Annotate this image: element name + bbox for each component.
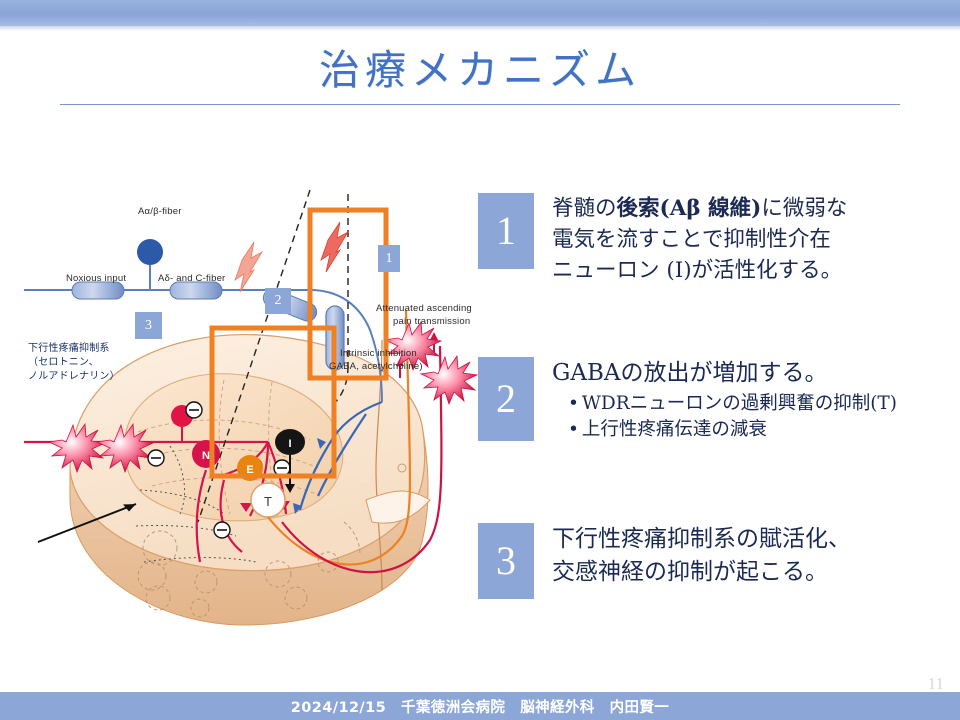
step1-line1b: 後索(Aβ 線維) [617, 196, 762, 221]
label-ad-c-fiber: Aδ- and C-fiber [158, 273, 225, 284]
step3-line1: 下行性疼痛抑制系の賦活化、 [552, 523, 851, 556]
footer-bar: 2024/12/15 千葉徳洲会病院 脳神経外科 内田賢一 [0, 692, 960, 720]
label-descending-line3: ノルアドレナリン） [28, 370, 120, 383]
step-text-3: 下行性疼痛抑制系の賦活化、 交感神経の抑制が起こる。 [552, 523, 851, 589]
step1-line3: ニューロン (I)が活性化する。 [552, 255, 847, 286]
label-attenuated-line2: pain transmission [393, 316, 470, 327]
step-item-2: 2 GABAの放出が増加する。 •WDRニューロンの過剰興奮の抑制(T) •上行… [478, 357, 897, 443]
diagram-badge-2: 2 [265, 288, 291, 314]
step-badge-1: 1 [478, 193, 534, 269]
step-item-1: 1 脊髄の後索(Aβ 線維)に微弱な 電気を流すことで抑制性介在 ニューロン (… [478, 193, 847, 286]
step1-line1a: 脊髄の [552, 196, 617, 221]
step2-bullet-2-text: 上行性疼痛伝達の減衰 [582, 419, 767, 440]
page-title: 治療メカニズム [0, 36, 960, 96]
label-intrinsic-line1: Intrinsic inhibition [340, 348, 417, 359]
step2-bullet-1-text: WDRニューロンの過剰興奮の抑制(T) [582, 393, 897, 414]
step1-line1c: に微弱な [761, 196, 847, 221]
footer-text: 2024/12/15 千葉徳洲会病院 脳神経外科 内田賢一 [291, 696, 669, 717]
step3-line2: 交感神経の抑制が起こる。 [552, 556, 851, 589]
diagram-badge-3: 3 [135, 312, 162, 339]
step2-bullet-2: •上行性疼痛伝達の減衰 [568, 417, 897, 443]
pain-gate-mechanism-diagram: N E I T [10, 170, 480, 670]
label-intrinsic-line2: GABA, acetylcholine) [329, 361, 423, 372]
step-text-2: GABAの放出が増加する。 •WDRニューロンの過剰興奮の抑制(T) •上行性疼… [552, 357, 897, 443]
ascending-burst-lower [421, 356, 477, 404]
step-item-3: 3 下行性疼痛抑制系の賦活化、 交感神経の抑制が起こる。 [478, 523, 851, 599]
page-number: 11 [928, 674, 944, 694]
neuron-N-label: N [202, 450, 210, 462]
electrode-lightning-icon [321, 222, 348, 272]
diagram-svg: N E I T [10, 170, 480, 670]
step-text-1: 脊髄の後索(Aβ 線維)に微弱な 電気を流すことで抑制性介在 ニューロン (I)… [552, 193, 847, 286]
step-badge-2: 2 [478, 357, 534, 441]
top-decorative-band [0, 0, 960, 26]
top-band-shadow [0, 26, 960, 31]
step2-heading: GABAの放出が増加する。 [552, 357, 897, 390]
bullet-marker-icon: • [568, 419, 579, 440]
step1-line2: 電気を流すことで抑制性介在 [552, 224, 847, 255]
bullet-marker-icon: • [568, 393, 579, 414]
label-noxious-input: Noxious input [66, 273, 126, 284]
label-descending-line2: （セロトニン、 [28, 356, 99, 369]
step-badge-3: 3 [478, 523, 534, 599]
label-a-beta-fiber: Aα/β-fiber [138, 206, 182, 217]
diagram-badge-1: 1 [378, 245, 400, 272]
label-descending-line1: 下行性疼痛抑制系 [28, 342, 110, 355]
step2-bullet-1: •WDRニューロンの過剰興奮の抑制(T) [568, 391, 897, 417]
neuron-T: T [251, 483, 285, 517]
title-divider-rule [60, 104, 900, 105]
neuron-N: N [192, 440, 220, 468]
label-attenuated-line1: Attenuated ascending [376, 303, 472, 314]
neuron-T-label: T [264, 494, 272, 509]
neuron-I-label: I [288, 438, 291, 450]
step2-bullets: •WDRニューロンの過剰興奮の抑制(T) •上行性疼痛伝達の減衰 [568, 391, 897, 443]
fiber-lightning-icon [235, 242, 262, 292]
